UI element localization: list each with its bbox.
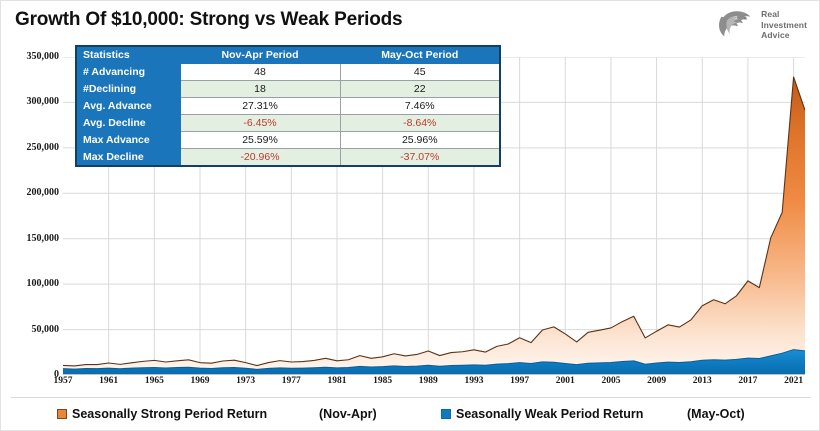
x-axis-tick-label: 1989 [419,376,438,386]
legend-label: Seasonally Strong Period Return [72,407,267,421]
table-cell-nov-apr: 25.59% [180,132,340,149]
table-cell-nov-apr: -6.45% [180,115,340,132]
table-row: # Advancing4845 [76,64,500,81]
y-axis-tick-label: 350,000 [1,51,59,62]
table-row: Max Decline-20.96%-37.07% [76,149,500,167]
x-axis-tick-label: 1973 [236,376,255,386]
y-axis-tick-label: 100,000 [1,278,59,289]
brand-logo: Real Investment Advice [719,7,807,43]
table-header-statistics: Statistics [76,46,180,64]
table-row: Avg. Advance27.31%7.46% [76,98,500,115]
table-row-label: Avg. Decline [76,115,180,132]
table-row: Max Advance25.59%25.96% [76,132,500,149]
table-header-row: Statistics Nov-Apr Period May-Oct Period [76,46,500,64]
legend-sublabel: (Nov-Apr) [319,407,377,421]
x-axis-tick-label: 1969 [190,376,209,386]
y-axis-tick-label: 0 [1,369,59,380]
x-axis-tick-label: 1965 [145,376,164,386]
chart-legend: Seasonally Strong Period Return(Nov-Apr)… [1,399,820,429]
table-cell-may-oct: -37.07% [340,149,500,167]
table-cell-nov-apr: 27.31% [180,98,340,115]
y-axis-tick-label: 50,000 [1,324,59,335]
table-cell-nov-apr: -20.96% [180,149,340,167]
x-axis-tick-label: 1961 [99,376,118,386]
legend-sublabel: (May-Oct) [687,407,745,421]
table-row: #Declining1822 [76,81,500,98]
table-row-label: #Declining [76,81,180,98]
table-row-label: Max Decline [76,149,180,167]
table-cell-nov-apr: 48 [180,64,340,81]
table-cell-may-oct: 22 [340,81,500,98]
x-axis-tick-label: 2021 [784,376,803,386]
statistics-table-body: # Advancing4845#Declining1822Avg. Advanc… [76,64,500,167]
table-cell-may-oct: -8.64% [340,115,500,132]
page-title: Growth Of $10,000: Strong vs Weak Period… [15,9,402,31]
table-header-nov-apr: Nov-Apr Period [180,46,340,64]
table-row: Avg. Decline-6.45%-8.64% [76,115,500,132]
table-row-label: Avg. Advance [76,98,180,115]
legend-separator [11,397,811,398]
table-cell-may-oct: 25.96% [340,132,500,149]
statistics-table: Statistics Nov-Apr Period May-Oct Period… [75,45,501,167]
table-cell-may-oct: 45 [340,64,500,81]
x-axis-tick-label: 1993 [464,376,483,386]
table-row-label: # Advancing [76,64,180,81]
x-axis-tick-label: 2005 [601,376,620,386]
legend-label: Seasonally Weak Period Return [456,407,643,421]
legend-item[interactable]: Seasonally Strong Period Return [57,407,267,421]
legend-swatch-strong-icon [57,409,67,419]
eagle-head-icon [719,7,755,43]
x-axis-tick-label: 1985 [373,376,392,386]
x-axis-tick-label: 2009 [647,376,666,386]
chart-root: Growth Of $10,000: Strong vs Weak Period… [0,0,820,431]
table-row-label: Max Advance [76,132,180,149]
brand-line-2: Investment [761,20,807,31]
table-cell-may-oct: 7.46% [340,98,500,115]
table-header-may-oct: May-Oct Period [340,46,500,64]
brand-line-3: Advice [761,30,807,41]
x-axis-tick-label: 1957 [54,376,73,386]
x-axis-tick-label: 1997 [510,376,529,386]
y-axis-tick-label: 200,000 [1,187,59,198]
x-axis-tick-label: 2001 [556,376,575,386]
y-axis-tick-label: 150,000 [1,233,59,244]
table-cell-nov-apr: 18 [180,81,340,98]
x-axis-tick-label: 2017 [738,376,757,386]
x-axis-labels: 1957196119651969197319771981198519891993… [63,376,805,392]
x-axis-tick-label: 1981 [327,376,346,386]
brand-logo-text: Real Investment Advice [761,9,807,41]
legend-item[interactable]: Seasonally Weak Period Return [441,407,643,421]
y-axis-tick-label: 300,000 [1,96,59,107]
y-axis-tick-label: 250,000 [1,142,59,153]
brand-line-1: Real [761,9,807,20]
legend-swatch-weak-icon [441,409,451,419]
x-axis-tick-label: 1977 [282,376,301,386]
x-axis-tick-label: 2013 [693,376,712,386]
